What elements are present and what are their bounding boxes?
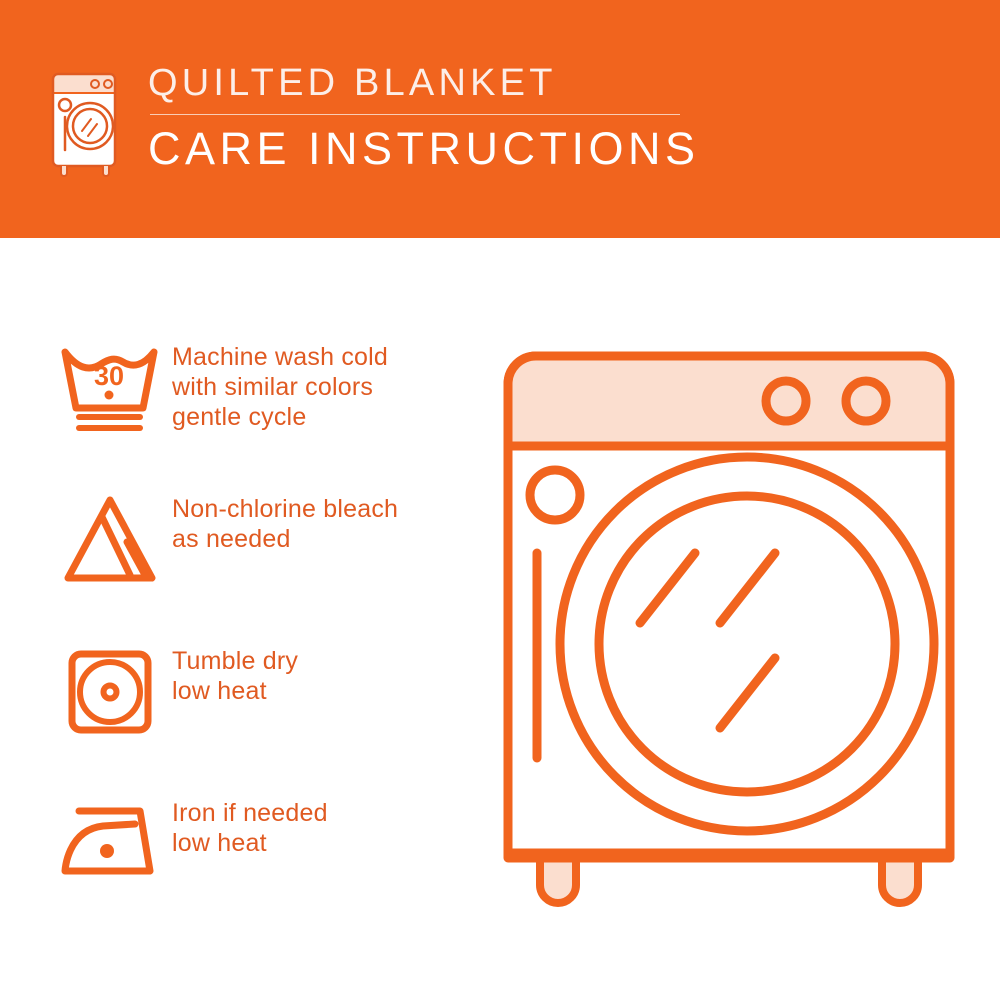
list-item: Non-chlorine bleach as needed [48,486,468,638]
instruction-text: Iron if needed low heat [172,790,328,858]
instruction-text: Machine wash cold with similar colors ge… [172,334,388,432]
header-title-block: QUILTED BLANKET CARE INSTRUCTIONS [148,60,700,174]
list-item: 30 Machine wash cold with similar colors… [48,334,468,486]
page-title-primary: QUILTED BLANKET [148,60,700,106]
instruction-icon-slot [48,638,172,742]
instruction-text: Non-chlorine bleach as needed [172,486,398,554]
header-content: QUILTED BLANKET CARE INSTRUCTIONS [44,60,700,178]
front-load-washing-machine-icon [480,328,980,948]
iron-low-heat-icon [57,794,163,894]
bleach-triangle-icon [57,490,163,590]
washing-machine-illustration [480,328,980,948]
list-item: Tumble dry low heat [48,638,468,790]
care-instruction-list: 30 Machine wash cold with similar colors… [48,334,468,942]
instruction-icon-slot: 30 [48,334,172,438]
title-divider [150,114,680,115]
wash-temperature-label: 30 [94,361,124,391]
instruction-icon-slot [48,486,172,590]
instruction-text: Tumble dry low heat [172,638,298,706]
wash-tub-30-icon: 30 [57,338,163,438]
list-item: Iron if needed low heat [48,790,468,942]
page-title-secondary: CARE INSTRUCTIONS [148,124,700,174]
main-content: 30 Machine wash cold with similar colors… [0,238,1000,1000]
washing-machine-icon [44,66,126,178]
header-banner: QUILTED BLANKET CARE INSTRUCTIONS [0,0,1000,238]
instruction-icon-slot [48,790,172,894]
tumble-dry-square-icon [57,642,163,742]
